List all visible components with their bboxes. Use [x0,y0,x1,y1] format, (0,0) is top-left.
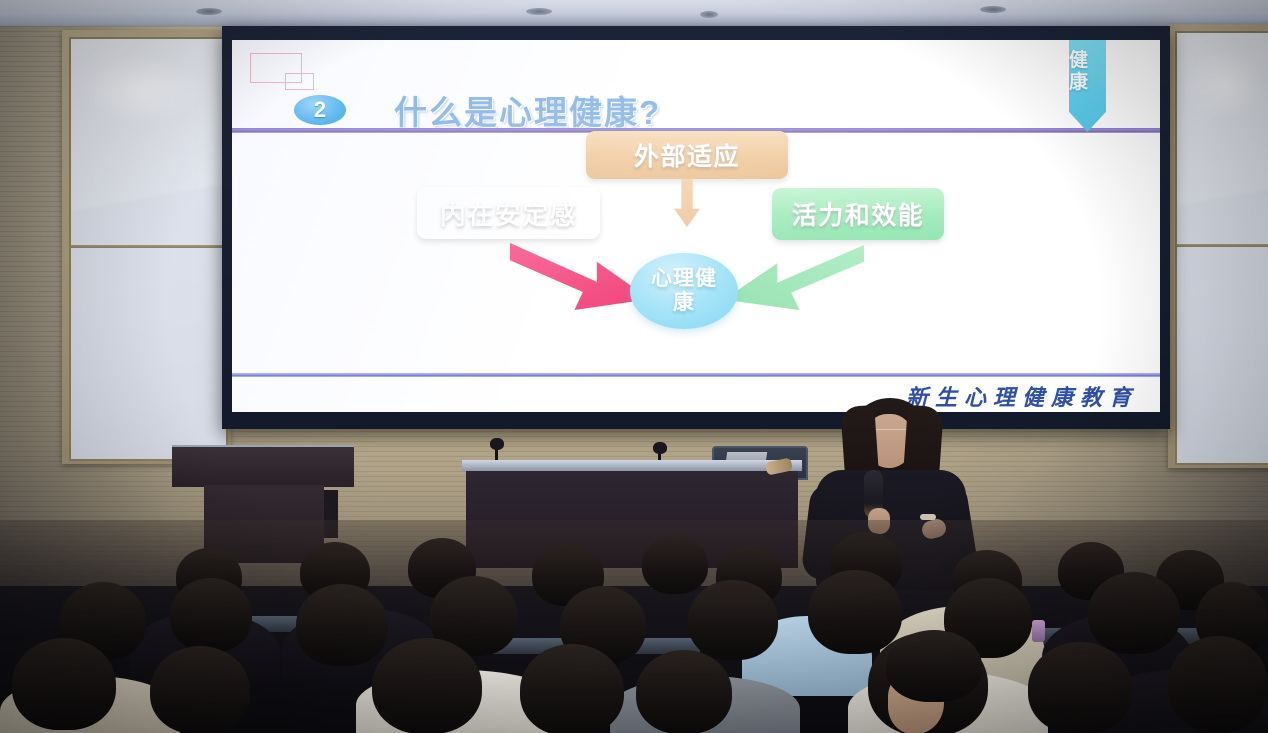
audience-head [520,644,624,733]
audience-head [688,580,778,660]
slide-title-row: 2 什么是心理健康? [294,86,661,134]
diagram-center-mental-health: 心理健康 [630,253,738,329]
audience-head [808,570,902,654]
ribbon-label: 健康 [1069,50,1106,94]
diagram-box-vitality-efficacy: 活力和效能 [772,188,944,240]
slide-divider-bottom [232,373,1160,377]
mental-health-diagram: 外部适应 内在安定感 活力和效能 心理健康 [232,135,1160,370]
diagram-box-external-adaptation: 外部适应 [586,131,788,179]
arrow-diagonal-left-icon [724,245,864,315]
diagram-center-label: 心理健康 [651,267,717,315]
diagram-box-inner-stability: 内在安定感 [417,187,600,239]
left-whiteboard-panel [62,30,231,464]
audience-head [296,584,388,666]
audience-head [170,578,252,652]
ceiling-light-icon [700,11,718,18]
audience-head [1088,572,1180,654]
arrow-diagonal-right-icon [510,243,650,315]
right-whiteboard-panel [1168,24,1268,468]
ceiling-light-icon [980,6,1006,13]
presentation-slide[interactable]: 2 什么是心理健康? 健康 外部适应 内在安定感 活力和效能 心理健康 新生心理… [232,40,1160,412]
audience-head [636,650,732,733]
slide-number-badge: 2 [294,95,346,125]
smartphone-icon [1032,620,1045,642]
ceiling-light-icon [196,8,222,15]
audience-head [1028,642,1132,733]
arrow-down-icon [674,179,700,227]
slide-title: 什么是心理健康? [394,86,661,134]
audience-head [1168,636,1268,732]
health-ribbon-banner: 健康 [1069,40,1106,132]
audience [0,520,1268,733]
lecture-hall-photo: 2 什么是心理健康? 健康 外部适应 内在安定感 活力和效能 心理健康 新生心理… [0,0,1268,733]
audience-head [12,638,116,730]
audience-head [886,630,982,702]
ceiling-light-icon [526,8,552,15]
audience-head [150,646,250,733]
audience-head [372,638,482,733]
audience-head [642,536,708,594]
